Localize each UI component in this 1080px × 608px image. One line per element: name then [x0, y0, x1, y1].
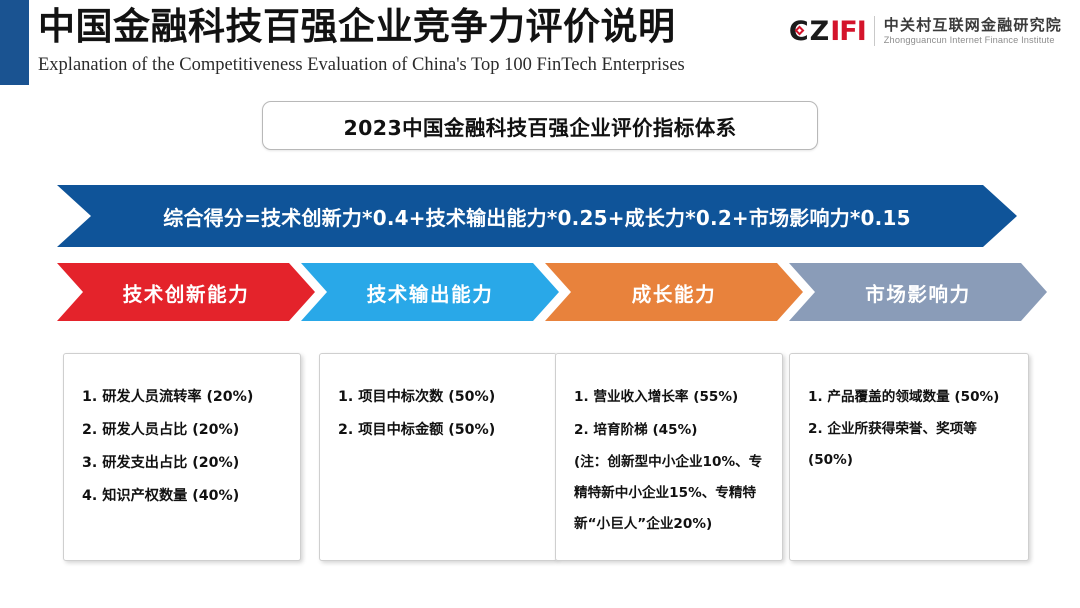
slide-canvas: 中国金融科技百强企业竞争力评价说明 Explanation of the Com…: [0, 0, 1080, 608]
logo-z-glyph: Z: [810, 18, 829, 45]
pillar-label: 技术创新能力: [123, 278, 250, 307]
pillar-label: 技术输出能力: [367, 278, 494, 307]
pillar-market-influence: 市场影响力: [789, 263, 1047, 321]
logo-name-block: 中关村互联网金融研究院 Zhongguancun Internet Financ…: [884, 16, 1062, 46]
card-line: 2. 培育阶梯 (45%): [574, 414, 768, 447]
card-line: 1. 营业收入增长率 (55%): [574, 381, 768, 414]
logo-name-en: Zhongguancun Internet Finance Institute: [884, 34, 1062, 46]
detail-card-market-influence: 1. 产品覆盖的领域数量 (50%) 2. 企业所获得荣誉、奖项等 (50%): [789, 353, 1029, 561]
header-accent-bar: [0, 0, 29, 85]
indicator-system-title-label: 2023中国金融科技百强企业评价指标体系: [343, 111, 736, 141]
card-line: 4. 知识产权数量 (40%): [82, 480, 286, 513]
card-line: 1. 产品覆盖的领域数量 (50%): [808, 381, 1014, 414]
card-line: 2. 项目中标金额 (50%): [338, 414, 542, 447]
card-line: 2. 研发人员占比 (20%): [82, 414, 286, 447]
page-subtitle: Explanation of the Competitiveness Evalu…: [38, 52, 738, 78]
indicator-system-title-box: 2023中国金融科技百强企业评价指标体系: [262, 101, 818, 150]
card-line: 3. 研发支出占比 (20%): [82, 447, 286, 480]
composite-score-formula-banner: 综合得分=技术创新力*0.4+技术输出能力*0.25+成长力*0.2+市场影响力…: [57, 185, 1017, 247]
logo-letter-c: C: [789, 18, 808, 45]
detail-card-growth: 1. 营业收入增长率 (55%) 2. 培育阶梯 (45%) (注：创新型中小企…: [555, 353, 783, 561]
logo-divider: [874, 16, 875, 46]
detail-card-technology-innovation: 1. 研发人员流转率 (20%) 2. 研发人员占比 (20%) 3. 研发支出…: [63, 353, 301, 561]
pillar-label: 市场影响力: [865, 278, 971, 307]
card-line: 1. 项目中标次数 (50%): [338, 381, 542, 414]
composite-score-formula-text: 综合得分=技术创新力*0.4+技术输出能力*0.25+成长力*0.2+市场影响力…: [163, 202, 910, 231]
organization-logo: C Z IFI 中关村互联网金融研究院 Zhongguancun Interne…: [789, 11, 1062, 51]
page-title: 中国金融科技百强企业竞争力评价说明: [38, 4, 738, 50]
card-line: 2. 企业所获得荣誉、奖项等 (50%): [808, 414, 1014, 476]
title-block: 中国金融科技百强企业竞争力评价说明 Explanation of the Com…: [38, 4, 738, 78]
pillar-technology-output: 技术输出能力: [301, 263, 559, 321]
card-line: 1. 研发人员流转率 (20%): [82, 381, 286, 414]
pillar-label: 成长能力: [632, 278, 716, 307]
logo-ifi-glyph: IFI: [830, 18, 866, 45]
detail-card-technology-output: 1. 项目中标次数 (50%) 2. 项目中标金额 (50%): [319, 353, 557, 561]
logo-mark-icon: C Z IFI: [789, 18, 866, 44]
pillar-growth: 成长能力: [545, 263, 803, 321]
card-note: (注：创新型中小企业10%、专精特新中小企业15%、专精特新“小巨人”企业20%…: [574, 447, 768, 540]
logo-name-cn: 中关村互联网金融研究院: [884, 16, 1062, 34]
pillar-technology-innovation: 技术创新能力: [57, 263, 315, 321]
